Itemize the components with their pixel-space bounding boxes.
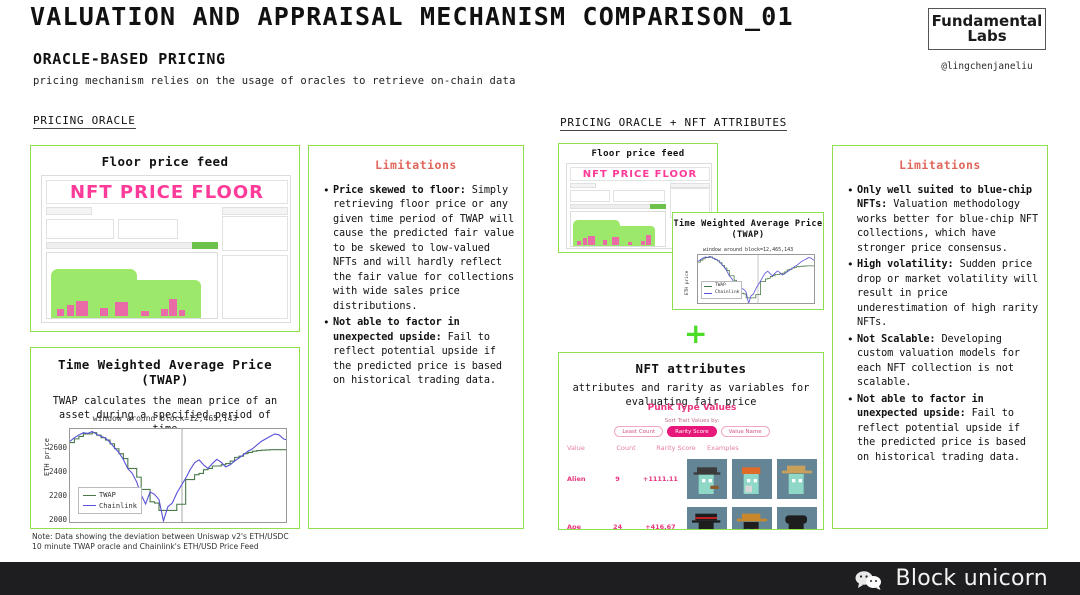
section-subheading: pricing mechanism relies on the usage of… bbox=[33, 75, 516, 87]
volume-bar bbox=[67, 305, 74, 316]
collection-info-card bbox=[46, 219, 114, 239]
volume-bar bbox=[57, 309, 64, 316]
twap-legend: TWAP Chainlink bbox=[78, 487, 142, 514]
legend-label-chainlink: Chainlink bbox=[715, 290, 739, 297]
sort-label: Sort Trait Values by: bbox=[567, 418, 817, 424]
legend-entry-chainlink: Chainlink bbox=[83, 501, 137, 512]
slide-root: VALUATION AND APPRAISAL MECHANISM COMPAR… bbox=[0, 0, 1080, 595]
twap-ytick: 2000 bbox=[41, 515, 67, 524]
cell-value: Ape bbox=[567, 523, 601, 530]
footer-bar: Block unicorn bbox=[0, 562, 1080, 595]
punk-ape-2 bbox=[732, 507, 772, 530]
volume-bar bbox=[115, 302, 128, 316]
cell-value: Alien bbox=[567, 475, 601, 483]
search-field-mock[interactable] bbox=[222, 207, 288, 215]
floor-price-card bbox=[118, 219, 178, 239]
volume-bar bbox=[603, 240, 607, 245]
twap-small-y-axis-label: ETH price bbox=[685, 271, 690, 295]
punk-avatar bbox=[732, 459, 772, 499]
volume-bar bbox=[583, 238, 587, 245]
volume-bar bbox=[577, 241, 581, 245]
punk-alien-3 bbox=[777, 459, 817, 499]
limitation-item-term: Price skewed to floor: bbox=[333, 185, 466, 196]
nft-attributes-title: NFT attributes bbox=[559, 361, 823, 376]
cell-count: 24 bbox=[601, 523, 634, 530]
twap-small-title-line2: (TWAP) bbox=[731, 230, 764, 240]
cell-examples bbox=[687, 507, 817, 530]
volume-bar bbox=[169, 299, 177, 316]
volume-bar bbox=[641, 241, 645, 245]
twap-small-legend: TWAP Chainlink bbox=[701, 281, 742, 299]
limitation-item-text: Simply retrieving floor price or any giv… bbox=[333, 185, 514, 312]
column-header-rarity: Rarity Score bbox=[645, 444, 707, 452]
collection-info-card bbox=[570, 190, 610, 202]
limitation-item: Not Scalable: Developing custom valuatio… bbox=[847, 333, 1039, 391]
volume-bar bbox=[100, 308, 108, 316]
limitation-item: Only well suited to blue-chip NFTs: Valu… bbox=[847, 184, 1039, 256]
floor-price-feed-small-title: Floor price feed bbox=[559, 149, 717, 159]
toolbar-icons bbox=[46, 207, 92, 215]
cell-rarity: +416.67 bbox=[634, 523, 687, 530]
punk-ape-3 bbox=[777, 507, 817, 530]
page-title: VALUATION AND APPRAISAL MECHANISM COMPAR… bbox=[30, 2, 794, 31]
cell-examples bbox=[687, 459, 817, 499]
column-header-examples: Examples bbox=[707, 444, 817, 452]
column-header-value: Value bbox=[567, 444, 607, 452]
brand-logo: Fundamental Labs bbox=[928, 8, 1046, 50]
card-nft-attributes: NFT attributes attributes and rarity as … bbox=[558, 352, 824, 530]
punk-alien-1 bbox=[687, 459, 727, 499]
twap-small-chart-title: window around block=12,465,143 bbox=[673, 247, 823, 253]
twap-source-note: Note: Data showing the deviation between… bbox=[32, 532, 300, 553]
volume-bar bbox=[612, 237, 619, 245]
table-row: Ape 24 +416.67 bbox=[567, 505, 817, 530]
punk-alien-2 bbox=[732, 459, 772, 499]
sort-options: Least Count Rarity Score Value Name bbox=[567, 426, 817, 437]
volume-bar bbox=[646, 235, 651, 245]
floor-price-card bbox=[613, 190, 665, 202]
toolbar-icons bbox=[570, 183, 596, 188]
legend-label-twap: TWAP bbox=[99, 490, 116, 501]
volume-bar bbox=[179, 310, 185, 316]
wechat-icon bbox=[854, 570, 884, 594]
legend-entry-twap: TWAP bbox=[704, 283, 739, 290]
sort-option-value-name[interactable]: Value Name bbox=[721, 426, 770, 437]
legend-swatch-chainlink bbox=[83, 505, 96, 506]
floor-price-area-chart bbox=[46, 252, 218, 319]
card-floor-price-feed: Floor price feed NFT PRICE FLOOR bbox=[30, 145, 300, 332]
cell-rarity: +1111.11 bbox=[634, 475, 687, 483]
nft-price-floor-banner: NFT PRICE FLOOR bbox=[46, 180, 288, 204]
section-heading: ORACLE-BASED PRICING bbox=[33, 50, 226, 68]
volume-bar bbox=[588, 236, 595, 245]
twap-chart-title: window around block=12,465,143 bbox=[31, 414, 299, 423]
card-twap: Time Weighted Average Price (TWAP) TWAP … bbox=[30, 347, 300, 529]
twap-title: Time Weighted Average Price (TWAP) bbox=[31, 357, 299, 387]
author-handle: @lingchenjaneliu bbox=[928, 61, 1046, 72]
floor-price-feed-title: Floor price feed bbox=[31, 154, 299, 169]
plus-icon: + bbox=[684, 320, 707, 348]
legend-entry-twap: TWAP bbox=[83, 490, 137, 501]
brand-logo-line2: Labs bbox=[967, 29, 1006, 44]
legend-label-chainlink: Chainlink bbox=[99, 501, 137, 512]
volume-bar bbox=[76, 301, 88, 316]
limitation-item: Not able to factor in unexpected upside:… bbox=[847, 393, 1039, 465]
limitations-left-heading: Limitations bbox=[315, 158, 517, 172]
legend-label-twap: TWAP bbox=[715, 283, 726, 290]
legend-swatch-twap bbox=[704, 286, 712, 287]
column-label-right: PRICING ORACLE + NFT ATTRIBUTES bbox=[560, 116, 787, 131]
cell-count: 9 bbox=[601, 475, 634, 483]
limitation-item: Not able to factor in unexpected upside:… bbox=[323, 316, 515, 388]
punk-type-table-title: Punk Type Values bbox=[567, 403, 817, 413]
limitation-item: Price skewed to floor: Simply retrieving… bbox=[323, 184, 515, 314]
chart-range-active[interactable] bbox=[650, 204, 666, 209]
legend-swatch-chainlink bbox=[704, 293, 712, 294]
chart-range-active[interactable] bbox=[192, 242, 218, 249]
legend-swatch-twap bbox=[83, 495, 96, 496]
card-limitations-left: Limitations Price skewed to floor: Simpl… bbox=[308, 145, 524, 529]
floor-price-area-chart-small bbox=[570, 211, 666, 247]
sort-option-least-count[interactable]: Least Count bbox=[614, 426, 663, 437]
card-limitations-right: Limitations Only well suited to blue-chi… bbox=[832, 145, 1048, 529]
limitations-right-list: Only well suited to blue-chip NFTs: Valu… bbox=[839, 184, 1041, 465]
twap-small-title-line1: Time Weighted Average Price bbox=[674, 219, 823, 229]
volume-bar bbox=[141, 311, 149, 316]
nft-price-floor-banner-small: NFT PRICE FLOOR bbox=[570, 167, 710, 181]
footer-brand: Block unicorn bbox=[895, 566, 1048, 591]
table-header-row: Value Count Rarity Score Examples bbox=[567, 444, 817, 452]
limitations-left-list: Price skewed to floor: Simply retrieving… bbox=[315, 184, 517, 389]
table-row: Alien 9 +1111.11 bbox=[567, 457, 817, 501]
limitations-right-heading: Limitations bbox=[839, 158, 1041, 172]
column-label-left: PRICING ORACLE bbox=[33, 114, 136, 129]
twap-ytick: 2200 bbox=[41, 491, 67, 500]
limitation-item: High volatility: Sudden price drop or ma… bbox=[847, 258, 1039, 330]
legend-entry-chainlink: Chainlink bbox=[704, 290, 739, 297]
card-twap-small: Time Weighted Average Price (TWAP) windo… bbox=[672, 212, 824, 310]
sort-option-rarity-score[interactable]: Rarity Score bbox=[667, 426, 716, 437]
volume-bar bbox=[628, 242, 632, 245]
nft-price-floor-screenshot: NFT PRICE FLOOR bbox=[41, 175, 291, 323]
twap-ytick: 2600 bbox=[41, 443, 67, 452]
twap-ytick: 2400 bbox=[41, 467, 67, 476]
punk-avatar bbox=[777, 459, 817, 499]
volume-bar bbox=[161, 309, 168, 316]
punk-ape-1 bbox=[687, 507, 727, 530]
column-header-count: Count bbox=[607, 444, 645, 452]
punk-avatar bbox=[687, 507, 727, 530]
punk-avatar bbox=[687, 459, 727, 499]
description-card bbox=[222, 255, 288, 319]
punk-avatar bbox=[732, 507, 772, 530]
limitation-item-term: High volatility: bbox=[857, 259, 954, 270]
limitation-item-term: Not Scalable: bbox=[857, 334, 935, 345]
collection-stats-card bbox=[222, 216, 288, 251]
punk-type-table: Punk Type Values Sort Trait Values by: L… bbox=[567, 403, 817, 530]
punk-avatar bbox=[777, 507, 817, 530]
